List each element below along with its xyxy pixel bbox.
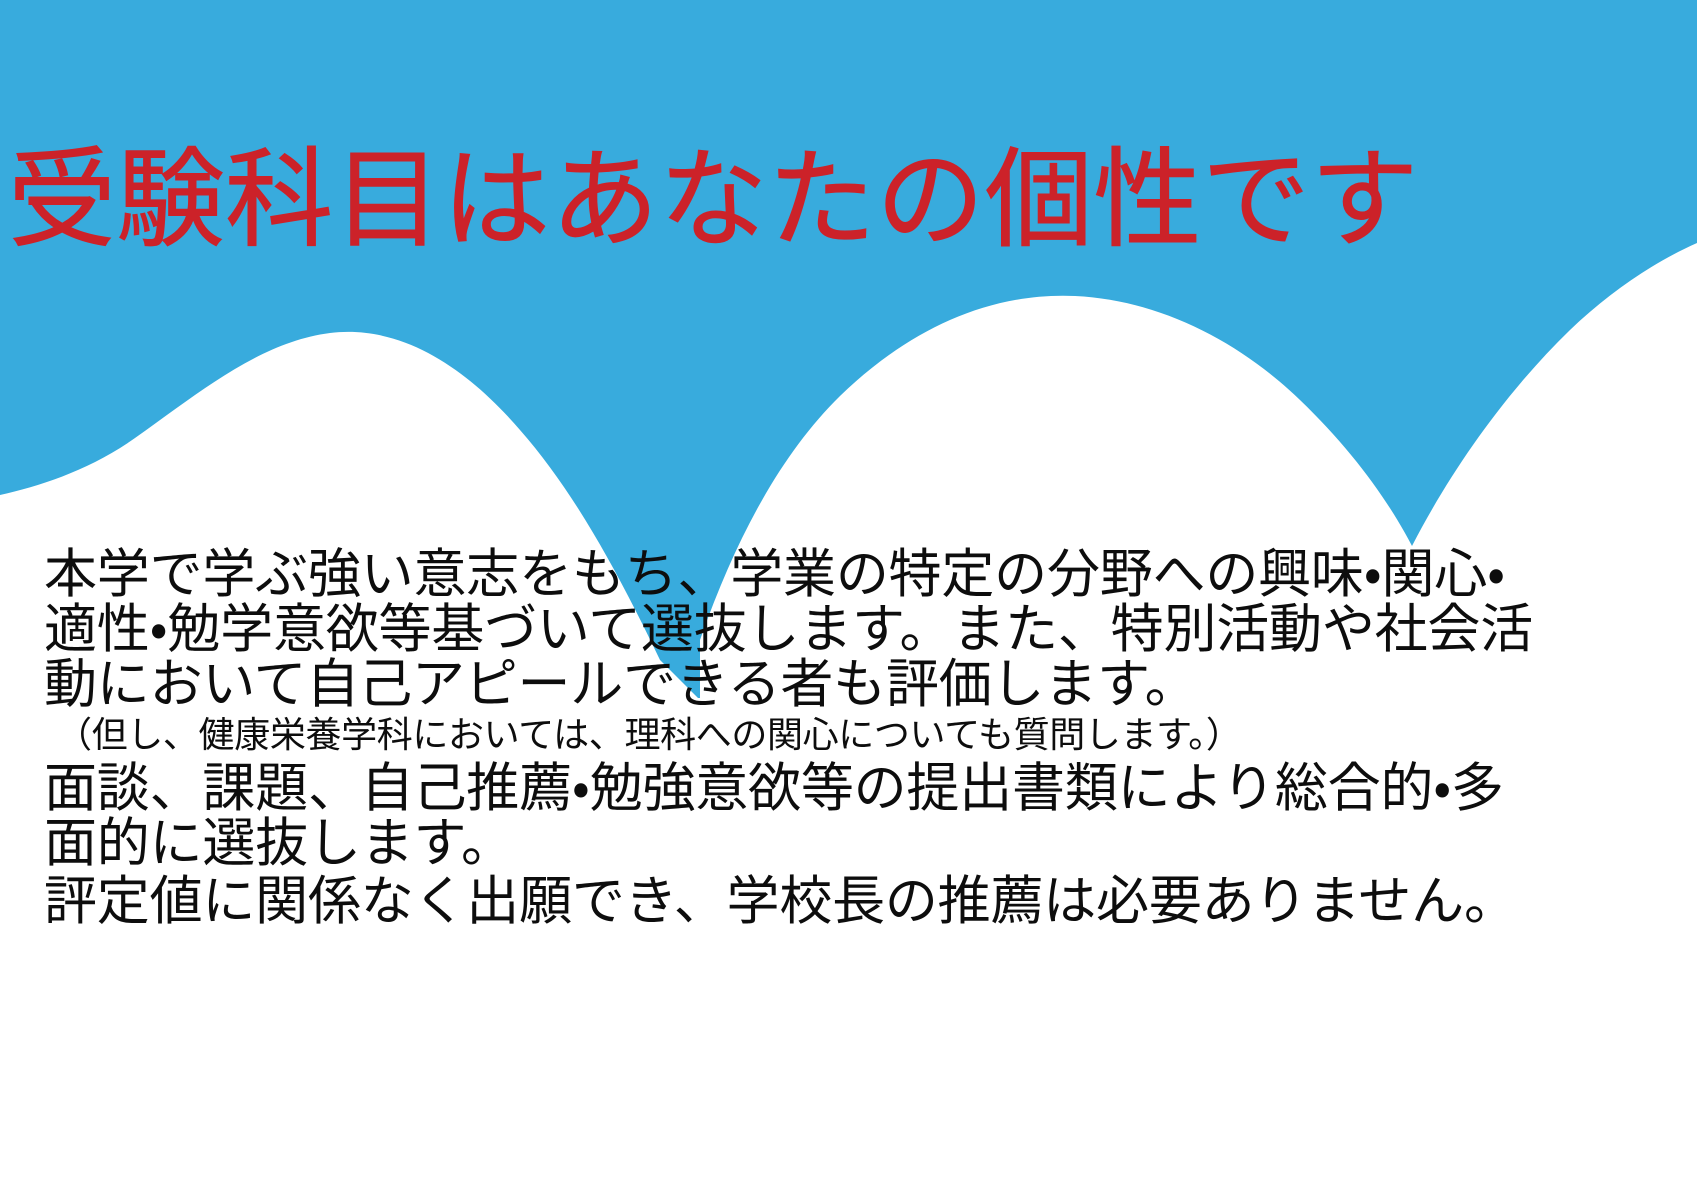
presentation-slide: 受験科目はあなたの個性です 本学で学ぶ強い意志をもち、学業の特定の分野への興味・… [0, 0, 1697, 1177]
page-title: 受験科目はあなたの個性です [8, 143, 1308, 256]
body-line-2: 適性・勉学意欲等基づいて選抜します。また、特別活動や社会活 [44, 603, 1464, 658]
body-line-5: 面談、課題、自己推薦・勉強意欲等の提出書類により総合的・多 [44, 759, 1464, 817]
body-line-6: 面的に選抜します。 [44, 817, 1464, 872]
body-line-4-note: （但し、健康栄養学科においては、理科への関心についても質問します。） [44, 713, 1464, 759]
body-line-1: 本学で学ぶ強い意志をもち、学業の特定の分野への興味・関心・ [44, 548, 1464, 603]
body-line-3: 動において自己アピールできる者も評価します。 [44, 658, 1464, 713]
body-line-7: 評定値に関係なく出願でき、学校長の推薦は必要ありません。 [44, 872, 1464, 930]
body-text-block: 本学で学ぶ強い意志をもち、学業の特定の分野への興味・関心・ 適性・勉学意欲等基づ… [44, 548, 1464, 930]
